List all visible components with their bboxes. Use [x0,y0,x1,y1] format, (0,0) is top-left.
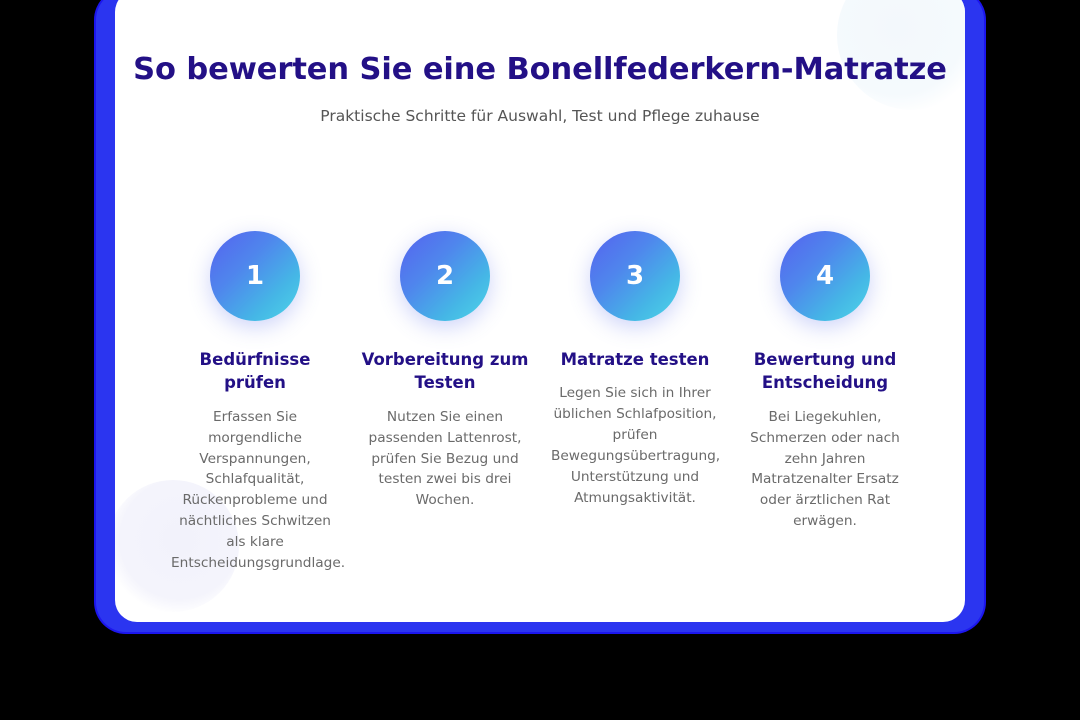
screenshot-stage: So bewerten Sie eine Bonellfederkern-Mat… [0,0,1080,720]
infographic-card: So bewerten Sie eine Bonellfederkern-Mat… [115,0,965,622]
step-title-4: Bewertung und Entscheidung [739,348,911,395]
step-body-1: Erfassen Sie morgendliche Verspannungen,… [171,407,339,574]
step-title-3: Matratze testen [549,348,721,371]
step-title-1: Bedürfnisse prüfen [169,348,341,395]
page-title: So bewerten Sie eine Bonellfederkern-Mat… [115,52,965,87]
step-number-badge-4: 4 [780,231,870,321]
step-number-badge-1: 1 [210,231,300,321]
step-body-3: Legen Sie sich in Ihrer üblichen Schlafp… [551,383,719,508]
page-subtitle: Praktische Schritte für Auswahl, Test un… [115,107,965,125]
step-number-badge-2: 2 [400,231,490,321]
steps-row: 1 Bedürfnisse prüfen Erfassen Sie morgen… [115,231,965,573]
step-body-4: Bei Liegekuhlen, Schmerzen oder nach zeh… [741,407,909,532]
step-item-1: 1 Bedürfnisse prüfen Erfassen Sie morgen… [160,231,350,573]
step-body-2: Nutzen Sie einen passenden Lattenrost, p… [361,407,529,511]
step-title-2: Vorbereitung zum Testen [359,348,531,395]
card-content: So bewerten Sie eine Bonellfederkern-Mat… [115,0,965,622]
step-item-4: 4 Bewertung und Entscheidung Bei Liegeku… [730,231,920,573]
step-item-3: 3 Matratze testen Legen Sie sich in Ihre… [540,231,730,573]
step-item-2: 2 Vorbereitung zum Testen Nutzen Sie ein… [350,231,540,573]
step-number-badge-3: 3 [590,231,680,321]
